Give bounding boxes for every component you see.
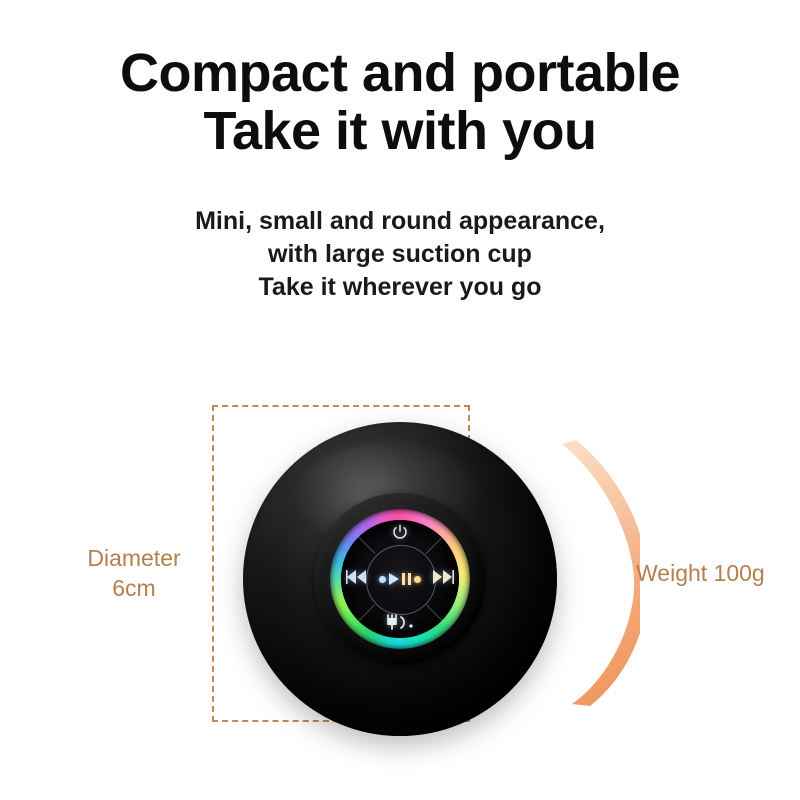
previous-track-icon [346,569,368,590]
pause-icon [402,573,411,585]
play-icon [389,573,399,585]
power-icon [391,523,409,546]
light-mode-button[interactable] [382,615,418,633]
product-stage: Diameter 6cm Weight 100g [0,380,800,800]
play-pause-button[interactable] [371,572,429,586]
subtitle-line-2: with large suction cup [0,238,800,271]
mode-dot-left-icon [379,576,386,583]
mode-dot-right-icon [414,576,421,583]
headline-line-1: Compact and portable [0,44,800,102]
lamp-icon [382,613,418,636]
bluetooth-speaker[interactable] [243,422,557,736]
weight-indicator-arc [556,438,640,710]
previous-track-button[interactable] [346,571,368,587]
page-subtitle: Mini, small and round appearance, with l… [0,205,800,304]
power-button[interactable] [391,525,409,543]
weight-label: Weight 100g [636,558,765,588]
subtitle-line-3: Take it wherever you go [0,271,800,304]
headline-line-2: Take it with you [0,102,800,160]
page-headline: Compact and portable Take it with you [0,44,800,160]
next-track-icon [432,569,454,590]
next-track-button[interactable] [432,571,454,587]
subtitle-line-1: Mini, small and round appearance, [0,205,800,238]
control-panel[interactable] [330,509,470,649]
diameter-label: Diameter 6cm [60,543,208,603]
